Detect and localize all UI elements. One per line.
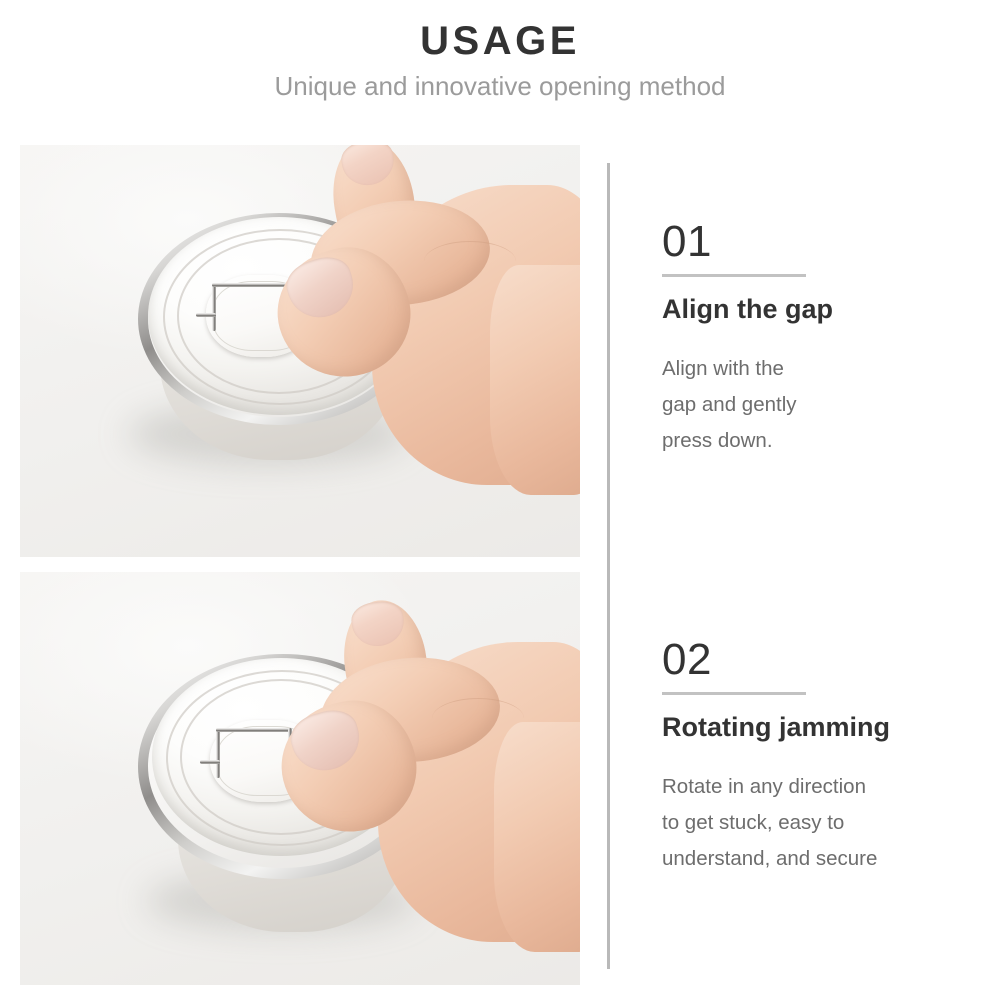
photo-step-2 [20,572,580,985]
hand-wrist [494,722,580,952]
wire-handle-left-post [216,730,220,778]
knuckle-crease [432,698,524,739]
step-rule [662,692,806,695]
step-body: Align with the gap and gently press down… [662,351,833,459]
vertical-divider [607,163,610,969]
page-subtitle: Unique and innovative opening method [0,68,1000,104]
step-rule [662,274,806,277]
knuckle-crease [424,241,516,282]
wire-handle-anchor [196,313,216,317]
wire-handle-top-bar [212,283,290,287]
step-number: 01 [662,216,833,268]
header: USAGE Unique and innovative opening meth… [0,0,1000,130]
wire-handle-left-post [212,285,216,331]
wire-handle-anchor [200,760,220,764]
hand-wrist [490,265,580,495]
step-body: Rotate in any direction to get stuck, ea… [662,769,890,877]
step-heading: Align the gap [662,292,833,326]
wire-handle-top-bar [216,728,292,732]
page-title: USAGE [0,17,1000,65]
step-block-1: 01 Align the gap Align with the gap and … [662,216,833,459]
step-number: 02 [662,634,890,686]
step-block-2: 02 Rotating jamming Rotate in any direct… [662,634,890,877]
step-heading: Rotating jamming [662,710,890,744]
photo-step-1 [20,145,580,557]
